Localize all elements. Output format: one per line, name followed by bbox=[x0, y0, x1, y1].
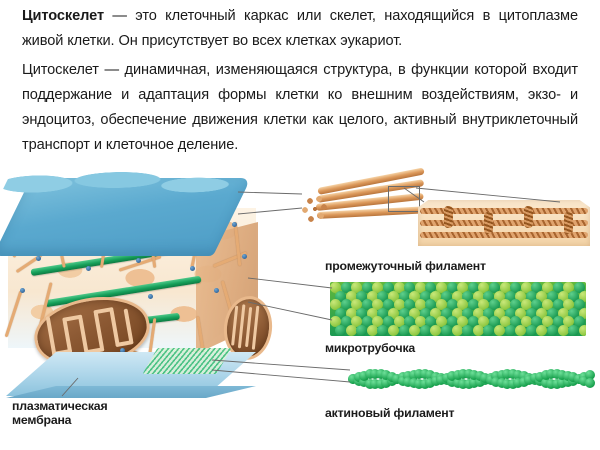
tubulin-subunit bbox=[452, 325, 463, 336]
tubulin-subunit bbox=[558, 325, 569, 336]
microtubule-cylinder bbox=[330, 282, 586, 336]
paragraph-functions: Цитоскелет — динамичная, изменяющаяся ст… bbox=[22, 58, 578, 158]
tubulin-subunit bbox=[335, 325, 346, 336]
tubulin-subunit bbox=[430, 325, 441, 336]
tubulin-subunit bbox=[462, 325, 473, 336]
membrane-protein-dot bbox=[148, 294, 153, 299]
membrane-protein-dot bbox=[20, 288, 25, 293]
actin-monomer bbox=[585, 378, 595, 388]
paragraph-definition-body: это клеточный каркас или скелет, находящ… bbox=[22, 8, 578, 49]
tubulin-subunit bbox=[494, 325, 505, 336]
label-plasma-membrane-line1: плазматическая bbox=[12, 399, 107, 413]
tubulin-subunit bbox=[420, 325, 431, 336]
tubulin-subunit bbox=[536, 325, 547, 336]
tubulin-subunit bbox=[526, 325, 537, 336]
label-actin-filament: актиновый филамент bbox=[325, 406, 454, 420]
membrane-protein-dot bbox=[136, 258, 141, 263]
tubulin-subunit bbox=[483, 325, 494, 336]
membrane-protein-dot bbox=[232, 222, 237, 227]
tubulin-subunit bbox=[515, 325, 526, 336]
membrane-protein-dot bbox=[214, 288, 219, 293]
term-cytoskeleton: Цитоскелет bbox=[22, 8, 104, 24]
label-plasma-membrane: плазматическая мембрана bbox=[12, 399, 107, 427]
slide-page: Цитоскелет — это клеточный каркас или ск… bbox=[0, 0, 600, 450]
tubulin-subunit bbox=[388, 325, 399, 336]
tubulin-subunit bbox=[346, 325, 357, 336]
intermediate-filament-magnified bbox=[418, 200, 590, 246]
tubulin-subunit bbox=[367, 325, 378, 336]
membrane-protein-dot bbox=[242, 254, 247, 259]
tubulin-subunit bbox=[568, 325, 579, 336]
cytoskeleton-diagram: промежуточный филамент микротрубочка акт… bbox=[0, 170, 600, 450]
label-intermediate-filament: промежуточный филамент bbox=[325, 259, 486, 273]
tubulin-subunit bbox=[505, 325, 516, 336]
label-plasma-membrane-line2: мембрана bbox=[12, 413, 107, 427]
tubulin-subunit bbox=[356, 325, 367, 336]
plasma-membrane-top-highlight bbox=[1, 172, 252, 194]
tubulin-subunit bbox=[547, 325, 558, 336]
membrane-protein-dot bbox=[190, 266, 195, 271]
tubulin-subunit bbox=[579, 325, 586, 336]
actin-bundle-floor bbox=[142, 348, 231, 374]
zoom-box bbox=[388, 186, 420, 212]
paragraph-functions-lastline: и клеточное деление. bbox=[94, 137, 238, 153]
actin-filament bbox=[348, 368, 594, 390]
paragraph-definition: Цитоскелет — это клеточный каркас или ск… bbox=[22, 4, 578, 54]
membrane-protein-dot bbox=[36, 256, 41, 261]
em-dash-1: — bbox=[112, 8, 127, 24]
tubulin-subunit bbox=[399, 325, 410, 336]
text-block: Цитоскелет — это клеточный каркас или ск… bbox=[22, 4, 578, 162]
tubulin-subunit bbox=[377, 325, 388, 336]
label-microtubule: микротрубочка bbox=[325, 341, 415, 355]
tubulin-subunit bbox=[473, 325, 484, 336]
tubulin-subunit bbox=[409, 325, 420, 336]
intermediate-filament-curve bbox=[302, 180, 422, 232]
intermediate-filament-cross-section bbox=[302, 194, 328, 224]
membrane-protein-dot bbox=[86, 266, 91, 271]
tubulin-subunit bbox=[441, 325, 452, 336]
